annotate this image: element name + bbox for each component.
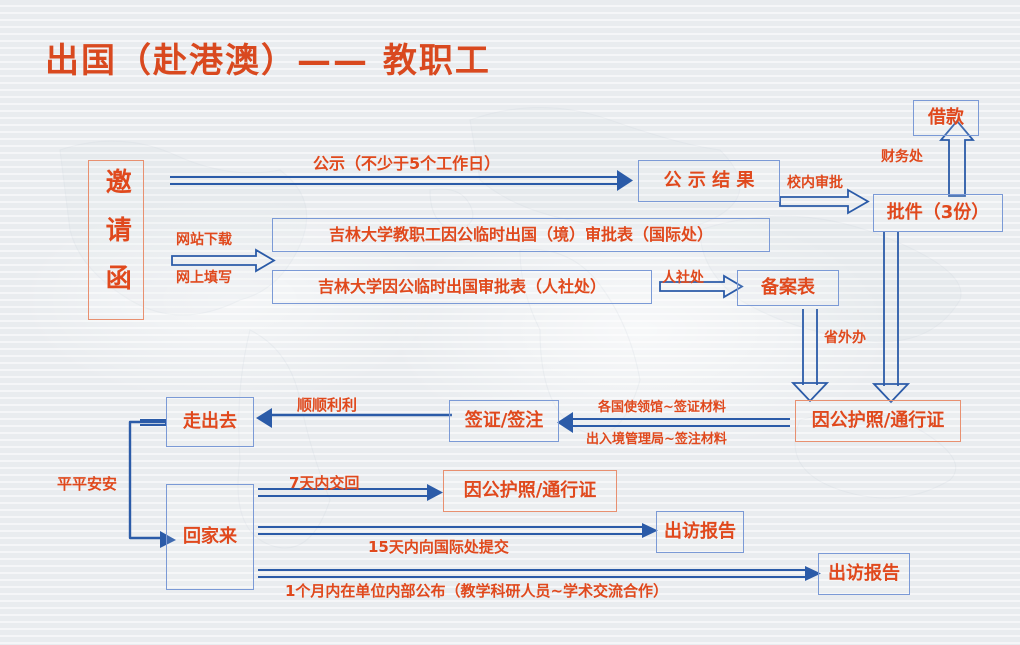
node-official-passport[interactable]: 因公护照/通行证 bbox=[795, 400, 961, 442]
page-title: 出国（赴港澳）—— 教职工 bbox=[45, 33, 491, 82]
node-notice-result[interactable]: 公 示 结 果 bbox=[638, 160, 780, 202]
node-invitation-letter[interactable]: 邀请函 bbox=[88, 160, 144, 320]
arrow-campus-approval bbox=[780, 190, 868, 213]
node-loan[interactable]: 借款 bbox=[913, 100, 979, 136]
node-form-hr-office[interactable]: 吉林大学因公临时出国审批表（人社处） bbox=[272, 270, 652, 304]
world-map-background bbox=[0, 0, 1020, 645]
label-finance-office: 财务处 bbox=[881, 146, 923, 166]
label-return-within-7-days: 7天内交回 bbox=[289, 472, 359, 493]
slide-canvas: 出国（赴港澳）—— 教职工 bbox=[0, 0, 1020, 645]
node-report-bottom[interactable]: 出访报告 bbox=[818, 553, 910, 595]
connector-layer bbox=[0, 0, 1020, 645]
label-hr-office: 人社处 bbox=[662, 267, 704, 287]
label-publish-within-1-month: 1个月内在单位内部公布（教学科研人员~学术交流合作） bbox=[285, 580, 668, 601]
label-smoothly: 顺顺利利 bbox=[297, 394, 357, 415]
label-immigration-materials: 出入境管理局~签注材料 bbox=[586, 428, 727, 447]
label-embassy-visa-materials: 各国使领馆~签证材料 bbox=[598, 396, 726, 415]
node-passport-return[interactable]: 因公护照/通行证 bbox=[443, 470, 617, 512]
label-campus-approval: 校内审批 bbox=[787, 172, 843, 192]
label-submit-within-15-days: 15天内向国际处提交 bbox=[368, 536, 509, 557]
label-fill-online: 网上填写 bbox=[176, 267, 232, 287]
node-come-home[interactable]: 回家来 bbox=[166, 484, 254, 590]
arrow-provincial bbox=[793, 309, 827, 401]
node-approval-document[interactable]: 批件（3份） bbox=[873, 194, 1003, 232]
arrow-approval-to-passport bbox=[874, 231, 908, 402]
node-form-international-office[interactable]: 吉林大学教职工因公临时出国（境）审批表（国际处） bbox=[272, 218, 770, 252]
node-record-form[interactable]: 备案表 bbox=[737, 270, 839, 306]
label-public-notice: 公示（不少于5个工作日） bbox=[313, 150, 500, 174]
node-visa[interactable]: 签证/签注 bbox=[449, 400, 559, 442]
node-go-out[interactable]: 走出去 bbox=[166, 397, 254, 447]
label-website-download: 网站下载 bbox=[176, 229, 232, 249]
arrow-publish1m bbox=[258, 566, 821, 581]
node-report-middle[interactable]: 出访报告 bbox=[656, 511, 744, 553]
label-provincial-office: 省外办 bbox=[824, 327, 866, 347]
label-safe-and-sound: 平平安安 bbox=[57, 473, 117, 494]
